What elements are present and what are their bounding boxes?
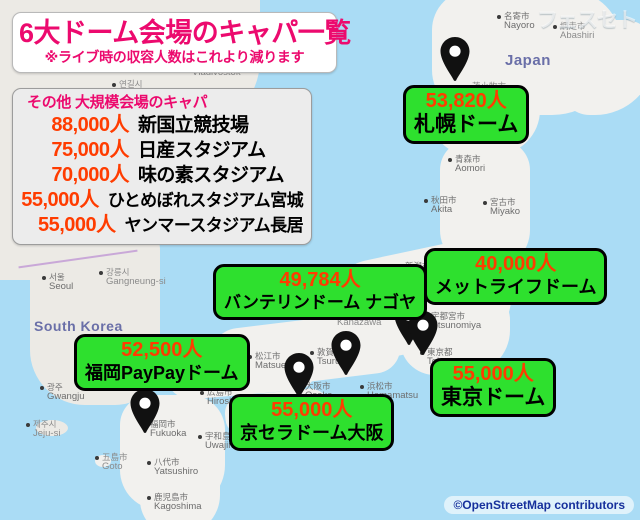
capacity-badge-fukuoka-paypay-dome[interactable]: 52,500人 福岡PayPayドーム <box>74 334 250 391</box>
map-pin-sapporo-dome[interactable] <box>438 36 472 82</box>
city-dot <box>448 158 452 162</box>
capacity-badge-tokyo-dome[interactable]: 55,000人 東京ドーム <box>430 358 556 417</box>
city-dot <box>497 15 501 19</box>
venue-capacity: 70,000人 <box>21 163 129 188</box>
city-label-kagoshima: 鹿児島市 Kagoshima <box>147 493 202 512</box>
dome-name: 福岡PayPayドーム <box>85 362 239 384</box>
venue-name: 新国立競技場 <box>138 113 248 138</box>
city-dot <box>99 271 103 275</box>
capacity-value: 53,820人 <box>414 90 518 113</box>
city-label-yatsushiro: 八代市 Yatsushiro <box>147 458 198 477</box>
map-screenshot: Japan South Korea 名寄市 Nayoro 網走市 Abashir… <box>0 0 640 520</box>
city-label-goto: 五島市 Goto <box>95 453 128 472</box>
capacity-badge-sapporo-dome[interactable]: 53,820人 札幌ドーム <box>403 85 529 144</box>
city-label-gangneung: 강릉시 Gangneung-si <box>99 268 166 287</box>
city-dot <box>147 461 151 465</box>
island-oki <box>258 330 272 339</box>
city-label-aomori: 青森市 Aomori <box>448 155 485 174</box>
city-dot <box>95 456 99 460</box>
venue-capacity: 88,000人 <box>21 113 129 138</box>
other-venues-heading: その他 大規模会場のキャパ <box>27 93 303 113</box>
location-pin-icon <box>128 388 162 434</box>
venue-capacity: 55,000人 <box>21 213 116 238</box>
title-main-text: 6大ドーム会場のキャパ一覧 <box>19 18 330 48</box>
venue-name: 味の素スタジアム <box>138 163 284 188</box>
map-pin-vantelin-dome-nagoya[interactable] <box>329 330 363 376</box>
title-panel: 6大ドーム会場のキャパ一覧 ※ライブ時の収容人数はこれより減ります <box>12 12 337 73</box>
capacity-value: 55,000人 <box>240 399 383 422</box>
city-label-seoul: 서울 Seoul <box>42 273 73 292</box>
city-dot <box>483 201 487 205</box>
venue-name: ひとめぼれスタジアム宮城 <box>108 188 303 213</box>
capacity-value: 40,000人 <box>435 253 596 276</box>
venue-row: 70,000人 味の素スタジアム <box>21 163 303 188</box>
venue-row: 55,000人 ひとめぼれスタジアム宮城 <box>21 188 303 213</box>
venue-capacity: 75,000人 <box>21 138 129 163</box>
title-sub-text: ※ライブ時の収容人数はこれより減ります <box>19 49 330 66</box>
venue-row: 75,000人 日産スタジアム <box>21 138 303 163</box>
dome-name: バンテリンドーム ナゴヤ <box>224 292 416 313</box>
dome-name: 札幌ドーム <box>414 113 518 137</box>
capacity-badge-vantelin-dome-nagoya[interactable]: 49,784人 バンテリンドーム ナゴヤ <box>213 264 427 320</box>
location-pin-icon <box>438 36 472 82</box>
map-pin-fukuoka-paypay-dome[interactable] <box>128 388 162 434</box>
watermark-logo: フェスセト <box>537 4 637 34</box>
capacity-value: 55,000人 <box>441 363 545 386</box>
city-dot <box>147 496 151 500</box>
location-pin-icon <box>329 330 363 376</box>
city-dot <box>424 199 428 203</box>
map-pin-kyocera-dome-osaka[interactable] <box>282 352 316 398</box>
city-dot <box>112 83 116 87</box>
capacity-badge-kyocera-dome-osaka[interactable]: 55,000人 京セラドーム大阪 <box>229 394 394 451</box>
dome-name: メットライフドーム <box>435 276 596 298</box>
city-label-matsue: 松江市 Matsue <box>248 352 286 371</box>
city-label-miyako: 宮古市 Miyako <box>483 198 520 217</box>
venue-capacity: 55,000人 <box>21 188 99 213</box>
city-label-akita: 秋田市 Akita <box>424 196 457 215</box>
dome-name: 京セラドーム大阪 <box>240 422 383 444</box>
city-dot <box>360 385 364 389</box>
map-attribution[interactable]: ©OpenStreetMap contributors <box>444 496 634 514</box>
capacity-badge-metlife-dome[interactable]: 40,000人 メットライフドーム <box>424 248 607 305</box>
city-dot <box>40 386 44 390</box>
location-pin-icon <box>282 352 316 398</box>
dome-name: 東京ドーム <box>441 386 545 410</box>
venue-row: 88,000人 新国立競技場 <box>21 113 303 138</box>
venue-row: 55,000人 ヤンマースタジアム長居 <box>21 213 303 238</box>
capacity-value: 49,784人 <box>224 269 416 292</box>
city-dot <box>42 276 46 280</box>
city-label-nayoro: 名寄市 Nayoro <box>497 12 535 31</box>
venue-name: ヤンマースタジアム長居 <box>125 213 303 238</box>
city-dot <box>26 423 30 427</box>
venue-name: 日産スタジアム <box>138 138 265 163</box>
city-dot <box>198 435 202 439</box>
country-label-japan: Japan <box>505 52 551 69</box>
city-dot <box>200 391 204 395</box>
city-label-jeju: 제주시 Jeju-si <box>26 420 60 439</box>
other-venues-panel: その他 大規模会場のキャパ 88,000人 新国立競技場 75,000人 日産ス… <box>12 88 312 245</box>
capacity-value: 52,500人 <box>85 339 239 362</box>
country-label-south-korea: South Korea <box>34 318 123 334</box>
